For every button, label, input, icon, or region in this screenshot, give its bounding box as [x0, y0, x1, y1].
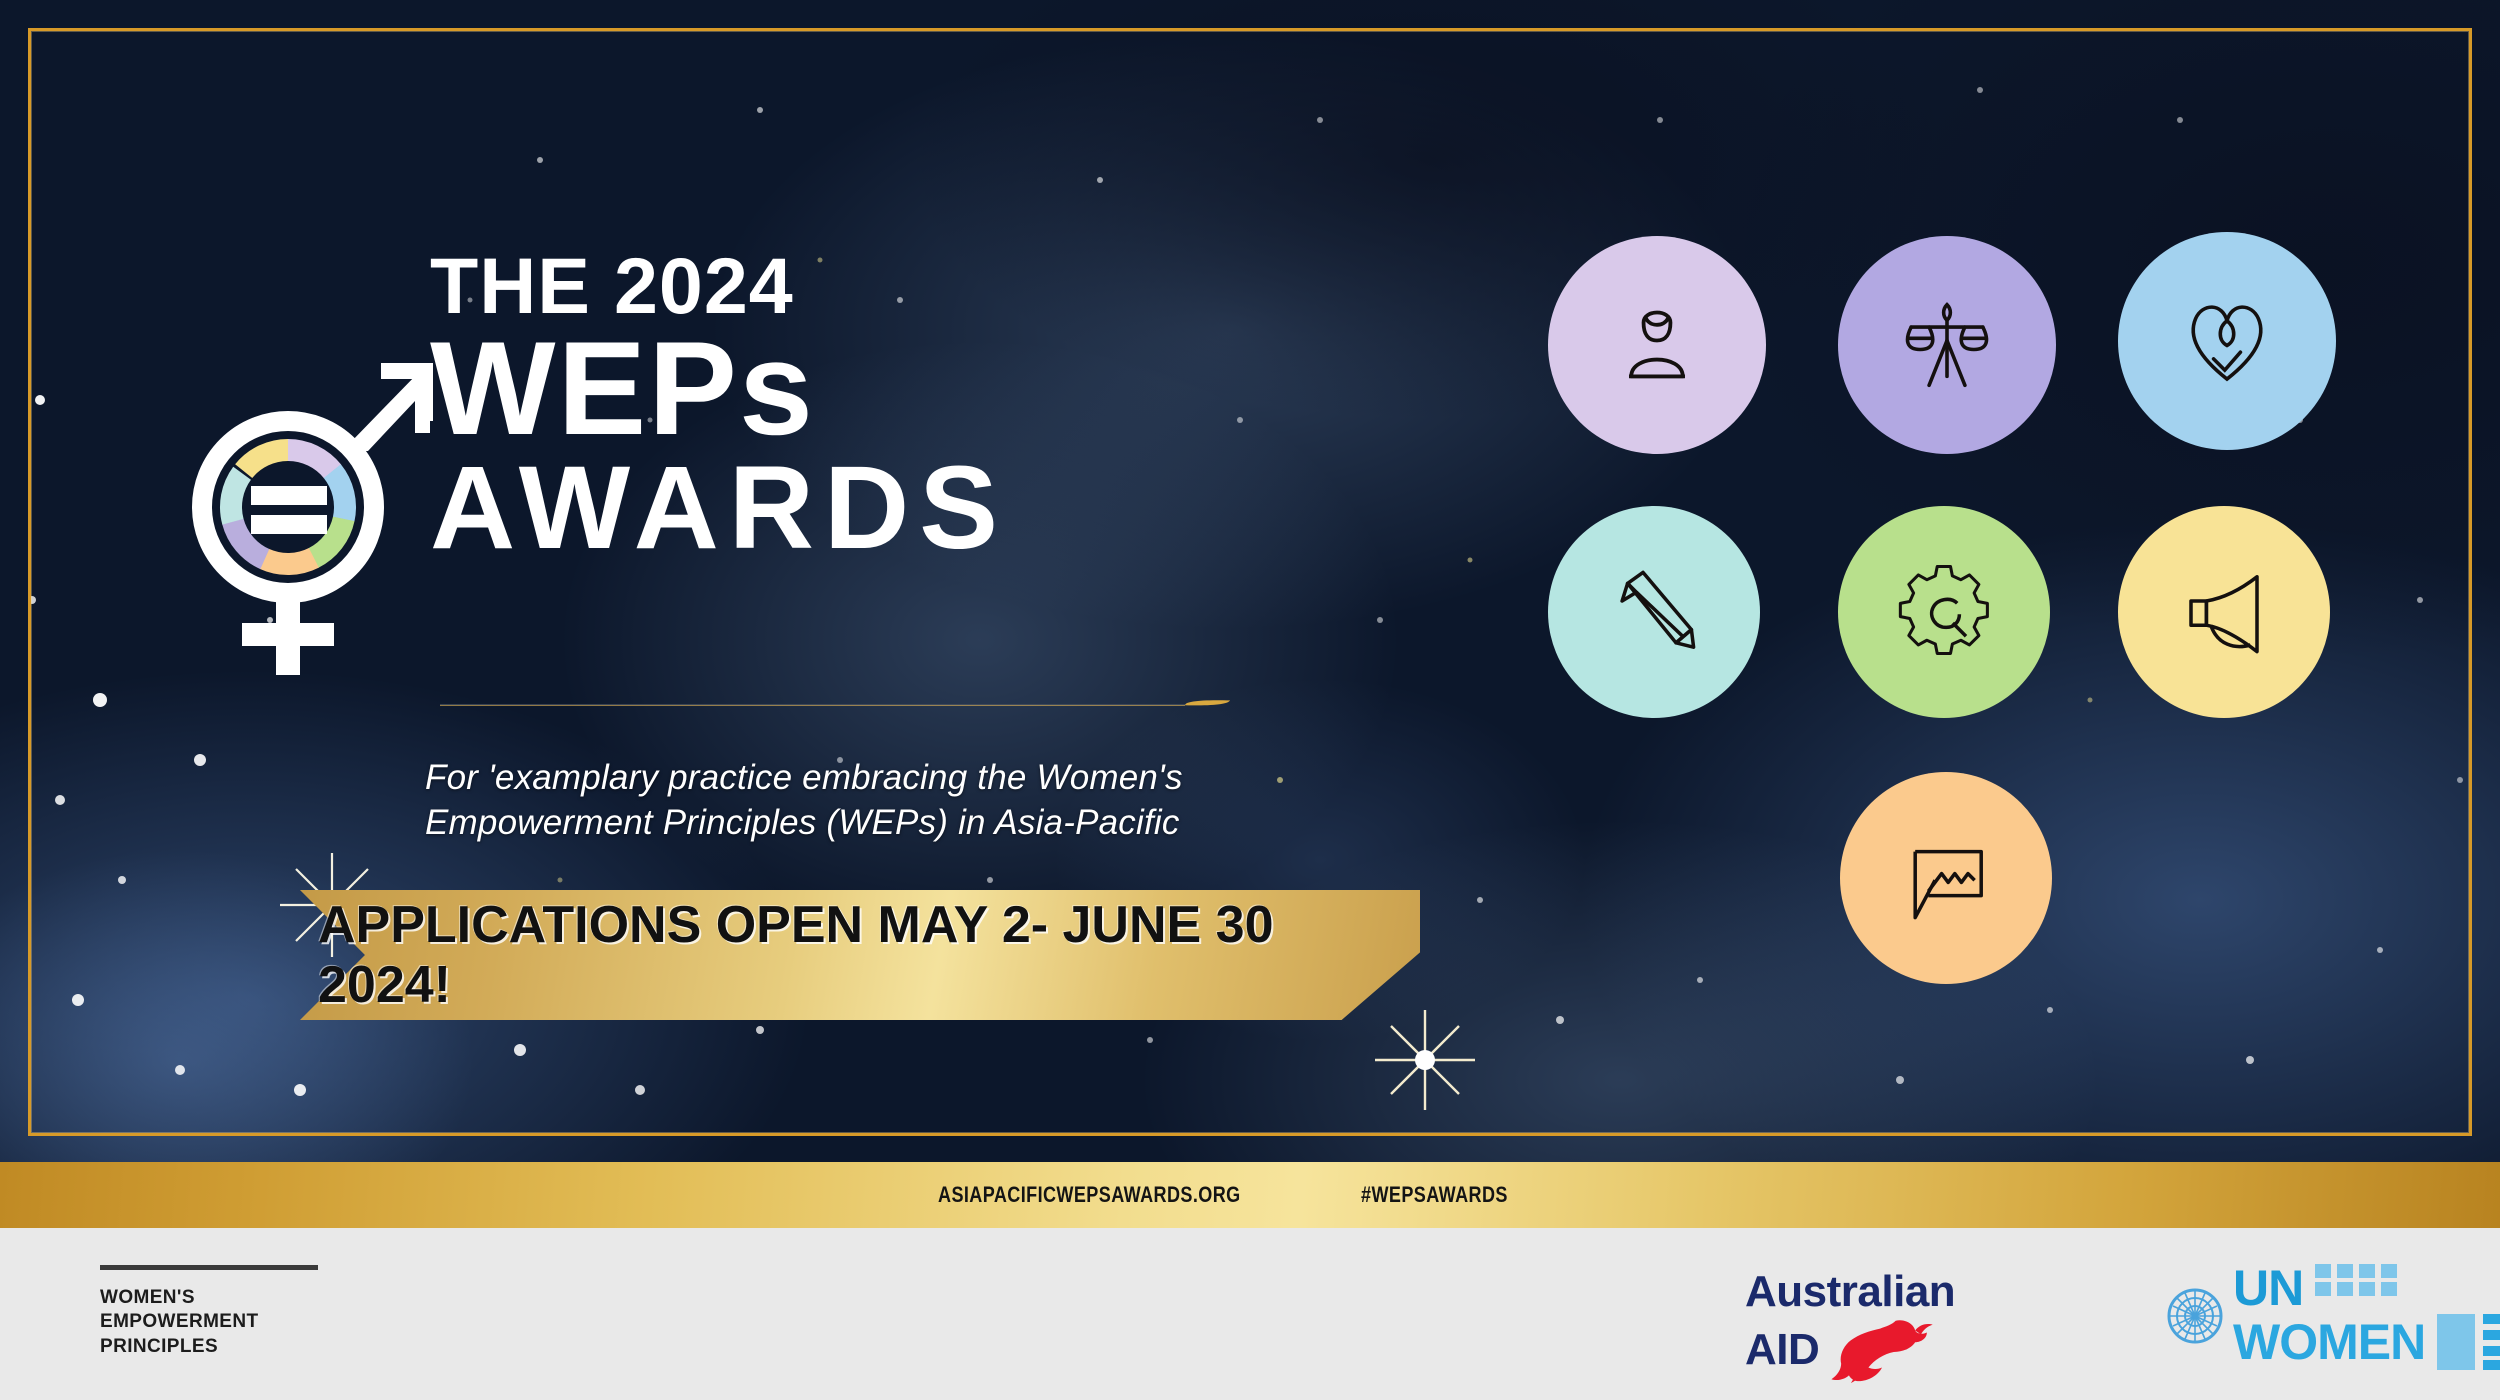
principle-circle-scales: [1838, 236, 2056, 454]
headline-block: THE 2024 WEPs AWARDS: [430, 248, 1240, 564]
principle-circle-pencil: [1548, 506, 1760, 718]
hashtag-label[interactable]: #WEPSAWARDS: [1361, 1182, 1508, 1208]
principle-circle-megaphone: [2118, 506, 2330, 718]
wep-logo-line-3: PRINCIPLES: [100, 1335, 318, 1359]
heart-icon: [2171, 285, 2283, 397]
australian-aid-row-2: AID: [1745, 1313, 1955, 1387]
poster-canvas: THE 2024 WEPs AWARDS For 'examplary prac…: [0, 0, 2500, 1400]
un-women-line-1: UN: [2233, 1265, 2303, 1311]
principle-circle-heart: [2118, 232, 2336, 450]
un-women-panel-icon: [2435, 1314, 2500, 1370]
chart-frame-icon: [1891, 823, 2001, 933]
un-emblem-icon: [2165, 1286, 2225, 1346]
headline-line-weps: WEPs: [430, 328, 1240, 450]
footer-logo-bar: [0, 1228, 2500, 1400]
headline-line-awards: AWARDS: [430, 452, 1240, 564]
headline-line-the2024: THE 2024: [430, 248, 1240, 324]
principle-circle-chart: [1840, 772, 2052, 984]
website-link[interactable]: ASIAPACIFICWEPSAWARDS.ORG: [938, 1182, 1241, 1208]
gear-icon: [1889, 557, 1999, 667]
un-women-line-2: WOMEN: [2233, 1319, 2425, 1365]
tagline-line-1: For 'examplary practice embracing the Wo…: [425, 756, 1430, 801]
un-women-wordmark: UN WOMEN: [2233, 1262, 2500, 1370]
megaphone-icon: [2169, 557, 2279, 667]
pencil-icon: [1599, 557, 1709, 667]
un-women-bars-icon: [2313, 1262, 2405, 1314]
un-women-logo: UN WOMEN: [2165, 1262, 2500, 1370]
gold-links-bar: ASIAPACIFICWEPSAWARDS.ORG #WEPSAWARDS: [0, 1162, 2500, 1228]
wep-logo-rule: [100, 1265, 318, 1270]
gold-links-group: ASIAPACIFICWEPSAWARDS.ORG #WEPSAWARDS: [938, 1162, 2500, 1228]
principle-circle-person: [1548, 236, 1766, 454]
wep-footer-logo: WOMEN'S EMPOWERMENT PRINCIPLES: [100, 1265, 318, 1359]
person-icon: [1601, 289, 1713, 401]
scales-icon: [1891, 289, 2003, 401]
principle-circle-gear: [1838, 506, 2050, 718]
un-women-row-1: UN: [2233, 1262, 2500, 1314]
kangaroo-icon: [1825, 1313, 1943, 1387]
wep-logo-line-1: WOMEN'S: [100, 1286, 318, 1310]
australian-aid-logo: Australian AID: [1745, 1270, 1955, 1387]
tagline-block: For 'examplary practice embracing the Wo…: [425, 756, 1430, 846]
wep-logo-line-2: EMPOWERMENT: [100, 1310, 318, 1334]
weps-gender-equality-logo: [168, 355, 468, 675]
tagline-line-2: Empowerment Principles (WEPs) in Asia-Pa…: [425, 801, 1430, 846]
un-women-row-2: WOMEN: [2233, 1314, 2500, 1370]
gold-divider-rule: [440, 700, 1230, 708]
applications-ribbon-label: APPLICATIONS OPEN MAY 2- JUNE 30 2024!: [300, 890, 1420, 1020]
australian-aid-line-2: AID: [1745, 1328, 1819, 1372]
australian-aid-line-1: Australian: [1745, 1270, 1955, 1313]
